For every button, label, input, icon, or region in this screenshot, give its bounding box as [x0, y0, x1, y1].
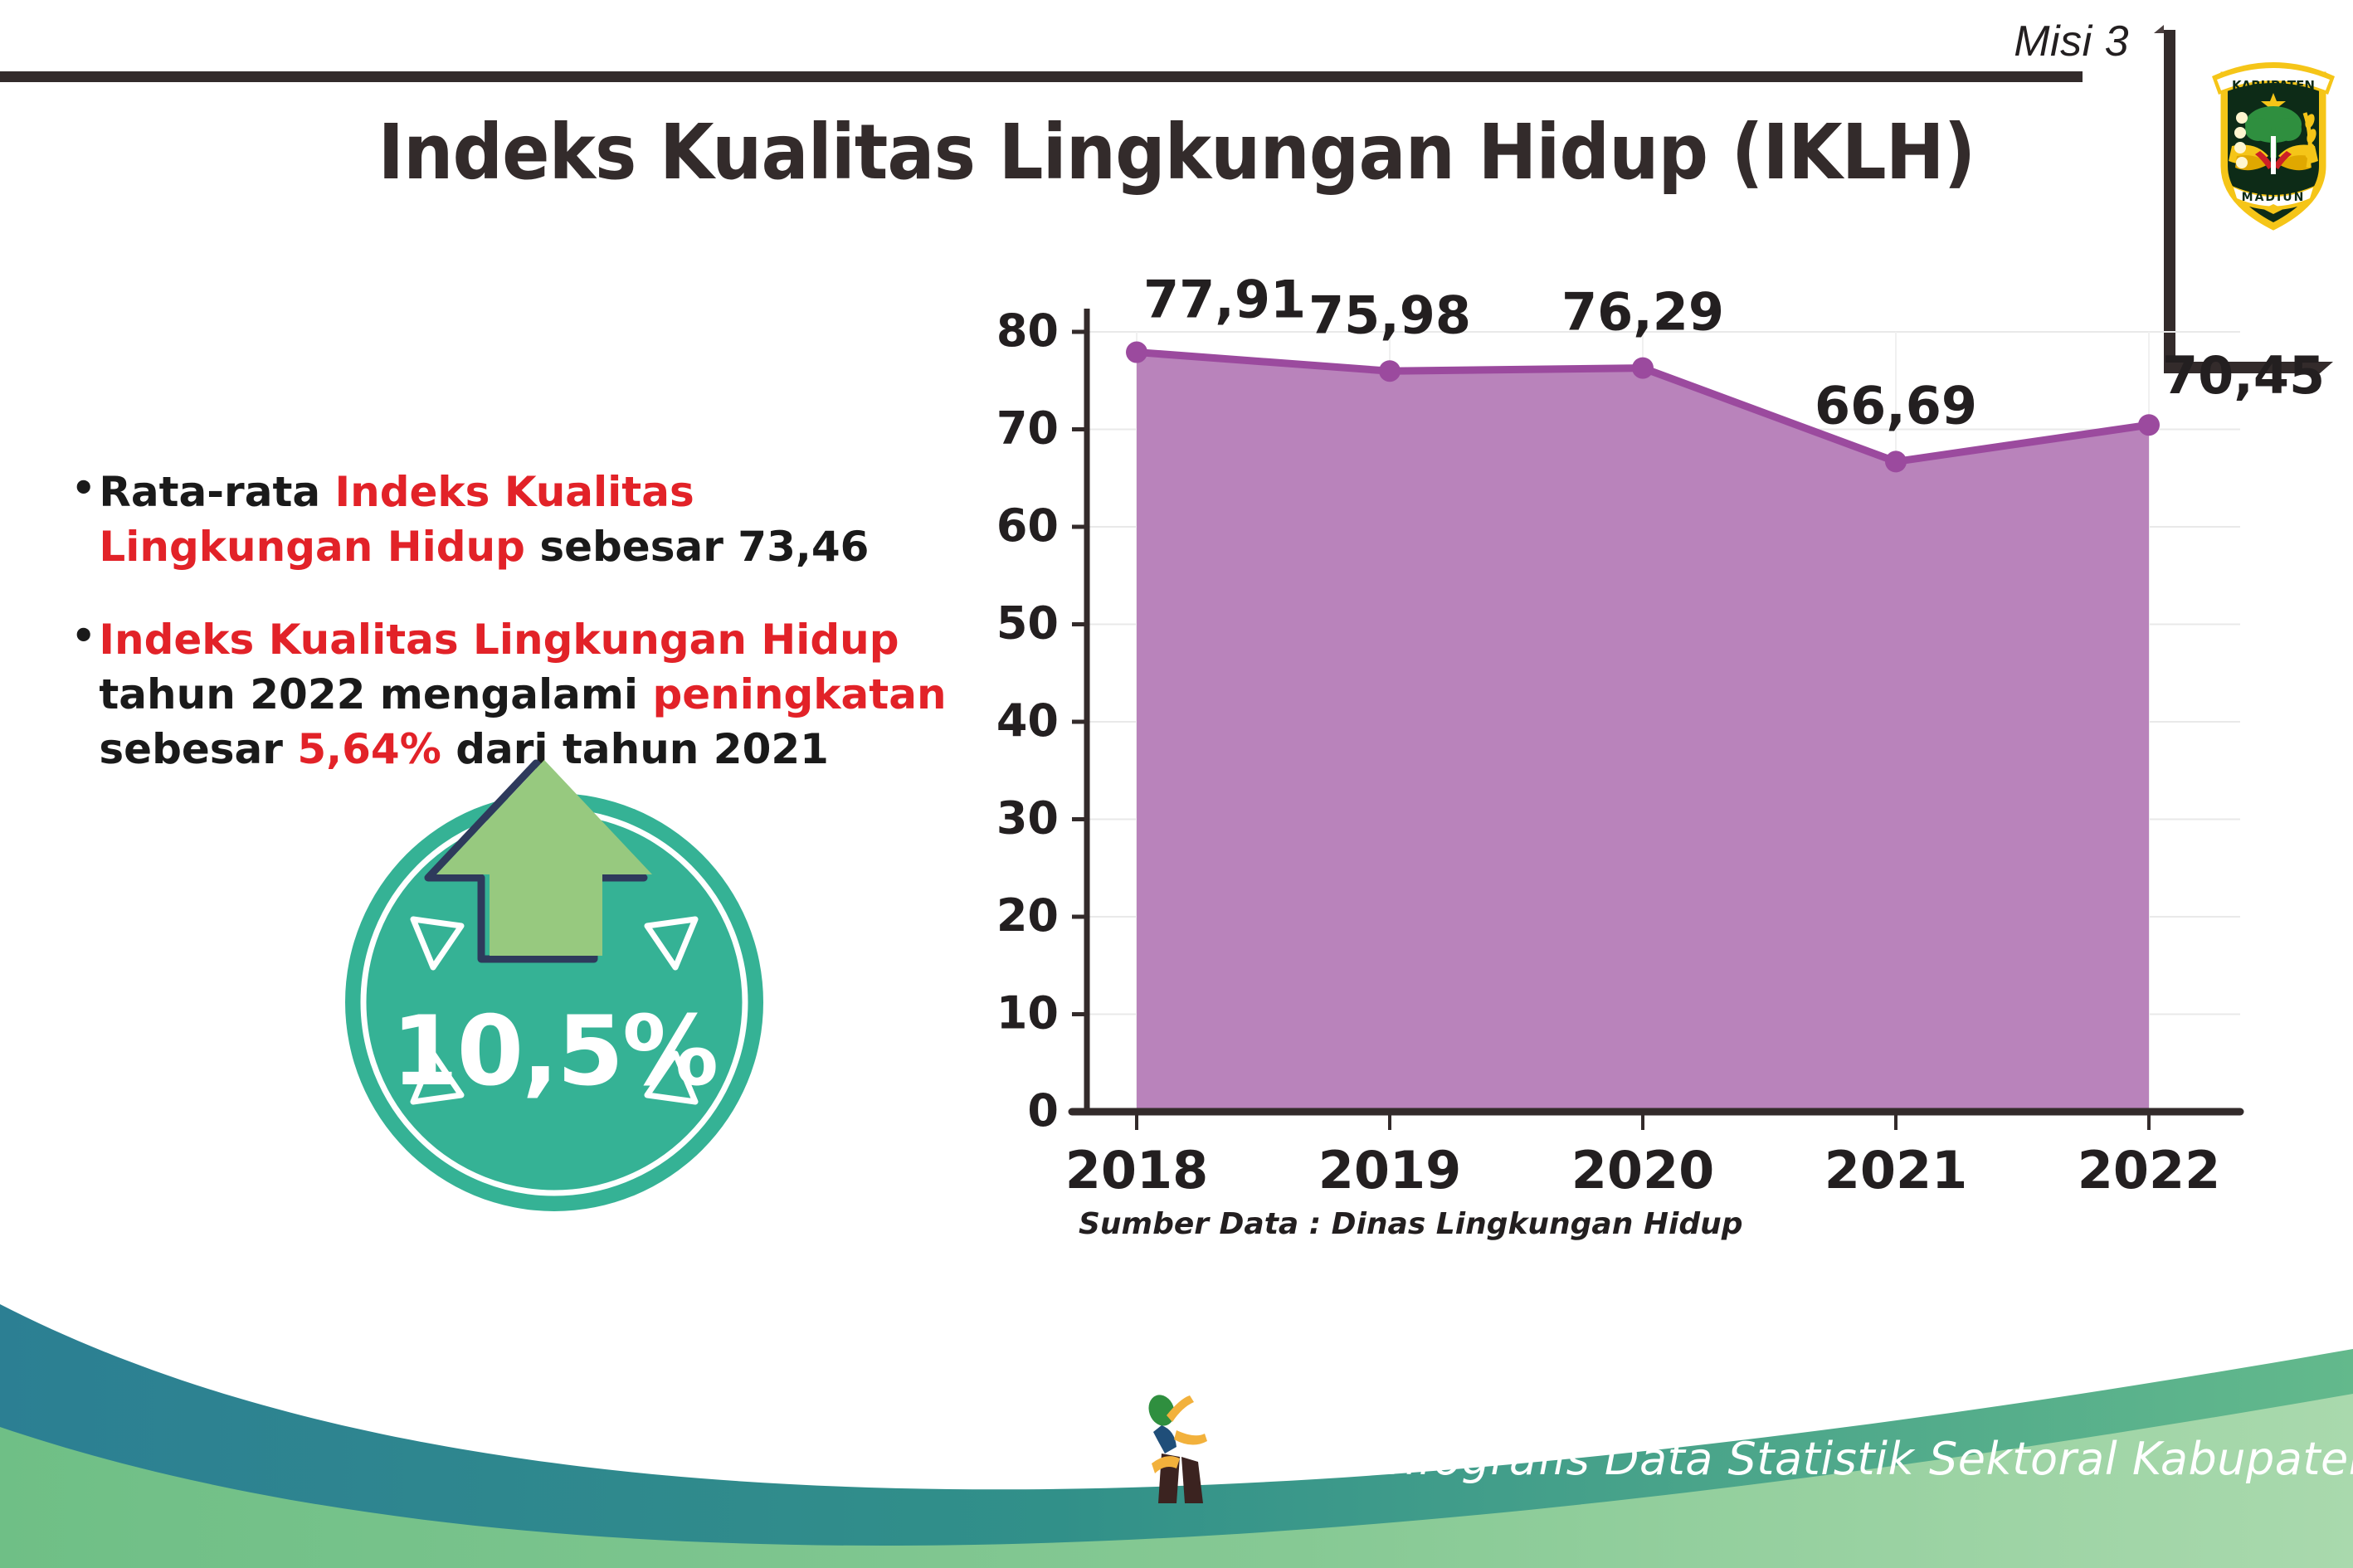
- badge-percent-label: 10,5%: [330, 996, 778, 1108]
- increase-badge: 10,5%: [330, 753, 778, 1218]
- x-tick-label: 2021: [1824, 1140, 1968, 1200]
- bullet-segment: Indeks Kualitas Lingkungan Hidup: [99, 616, 899, 664]
- data-label: 70,45: [2162, 345, 2325, 406]
- data-point-marker: [1379, 360, 1401, 382]
- chart-x-tick-labels: 20182019202020212022: [1065, 1140, 2221, 1200]
- mascot-icon: [1137, 1387, 1228, 1512]
- bullet-segment: sebesar 73,46: [539, 523, 869, 571]
- x-tick-label: 2020: [1571, 1140, 1715, 1200]
- y-tick-label: 30: [996, 792, 1059, 845]
- y-tick-label: 20: [996, 889, 1059, 942]
- data-point-marker: [1632, 358, 1654, 379]
- crest-top-text: KABUPATEN: [2232, 78, 2315, 93]
- data-label: 66,69: [1815, 375, 1977, 436]
- bullet-text-1: Indeks Kualitas Lingkungan Hidup tahun 2…: [99, 612, 976, 777]
- bullet-text-0: Rata-rata Indeks Kualitas Lingkungan Hid…: [99, 465, 976, 574]
- list-item: • Indeks Kualitas Lingkungan Hidup tahun…: [71, 612, 976, 777]
- y-tick-label: 40: [996, 694, 1059, 747]
- y-tick-label: 50: [996, 597, 1059, 650]
- misi-label: Misi 3: [2014, 17, 2129, 66]
- bullet-dot: •: [71, 612, 95, 660]
- bullet-segment: Rata-rata: [99, 468, 334, 516]
- page-title: Indeks Kualitas Lingkungan Hidup (IKLH): [94, 108, 2258, 197]
- y-tick-label: 10: [996, 987, 1059, 1040]
- y-tick-label: 60: [996, 499, 1059, 552]
- x-tick-label: 2022: [2078, 1140, 2221, 1200]
- y-tick-label: 80: [996, 304, 1059, 357]
- area-fill: [1137, 353, 2149, 1112]
- y-tick-label: 70: [996, 402, 1059, 455]
- y-tick-label: 0: [1027, 1084, 1059, 1137]
- chart-source-note: Sumber Data : Dinas Lingkungan Hidup: [1079, 1207, 1743, 1241]
- data-point-marker: [1126, 342, 1147, 363]
- bullet-segment: tahun 2022 mengalami: [99, 670, 652, 718]
- list-item: • Rata-rata Indeks Kualitas Lingkungan H…: [71, 465, 976, 574]
- chart-y-tick-labels: 01020304050607080: [996, 304, 1059, 1137]
- chart-area-series: [1126, 342, 2160, 1112]
- iklh-area-chart: 01020304050607080 20182019202020212022 7…: [979, 299, 2273, 1178]
- data-label: 75,98: [1308, 285, 1471, 345]
- bullet-segment: sebesar: [99, 725, 297, 773]
- bullet-dot: •: [71, 465, 95, 513]
- x-tick-label: 2019: [1318, 1140, 1462, 1200]
- header-rule: [0, 71, 2083, 82]
- data-point-marker: [1885, 450, 1907, 472]
- footer-caption: Media Infografis Data Statistik Sektoral…: [1224, 1433, 2353, 1485]
- data-point-marker: [2138, 414, 2160, 436]
- data-label: 76,29: [1561, 282, 1724, 343]
- data-label: 77,91: [1143, 270, 1306, 330]
- bullet-segment: peningkatan: [652, 670, 946, 718]
- x-tick-label: 2018: [1065, 1140, 1209, 1200]
- infographic-page: Misi 3 KABUPATEN: [0, 0, 2353, 1568]
